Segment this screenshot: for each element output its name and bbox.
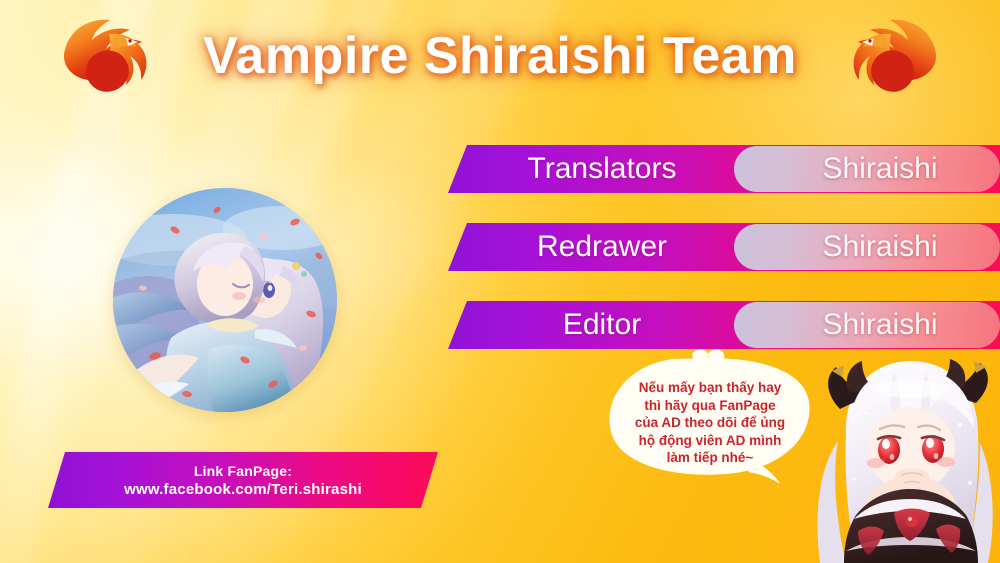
credit-row: Redrawer Shiraishi <box>448 223 1000 271</box>
fanpage-link-bar[interactable]: Link FanPage: www.facebook.com/Teri.shir… <box>48 452 438 508</box>
credit-name-label: Shiraishi <box>734 146 1000 192</box>
credit-name-label: Shiraishi <box>734 224 1000 270</box>
credit-row: Editor Shiraishi <box>448 301 1000 349</box>
credit-role-label: Translators <box>467 145 737 193</box>
fanpage-url[interactable]: www.facebook.com/Teri.shirashi <box>124 481 362 498</box>
credit-name-chip: Shiraishi <box>734 146 1000 192</box>
credit-role-label: Editor <box>467 301 737 349</box>
credit-name-chip: Shiraishi <box>734 224 1000 270</box>
bubble-line: làm tiếp nhé~ <box>618 449 802 467</box>
bubble-line: hộ động viên AD mình <box>618 432 802 450</box>
credit-row: Translators Shiraishi <box>448 145 1000 193</box>
phoenix-logo-icon <box>834 14 948 106</box>
bubble-line: Nếu mấy bạn thấy hay <box>618 379 802 397</box>
speech-bubble-text: Nếu mấy bạn thấy hay thì hãy qua FanPage… <box>604 379 816 467</box>
character-artwork-circle <box>113 188 337 412</box>
credit-role-label: Redrawer <box>467 223 737 271</box>
fanpage-content: Link FanPage: www.facebook.com/Teri.shir… <box>48 452 438 508</box>
speech-bubble: Nếu mấy bạn thấy hay thì hãy qua FanPage… <box>604 352 816 484</box>
bubble-line: thì hãy qua FanPage <box>618 397 802 415</box>
bubble-line: của AD theo dõi để ủng <box>618 414 802 432</box>
fanpage-label: Link FanPage: <box>194 463 292 479</box>
credit-banner: Vampire Shiraishi Team <box>0 0 1000 563</box>
chibi-mascot <box>810 355 1000 563</box>
credit-name-chip: Shiraishi <box>734 302 1000 348</box>
banner-header: Vampire Shiraishi Team <box>0 0 1000 118</box>
credit-name-label: Shiraishi <box>734 302 1000 348</box>
